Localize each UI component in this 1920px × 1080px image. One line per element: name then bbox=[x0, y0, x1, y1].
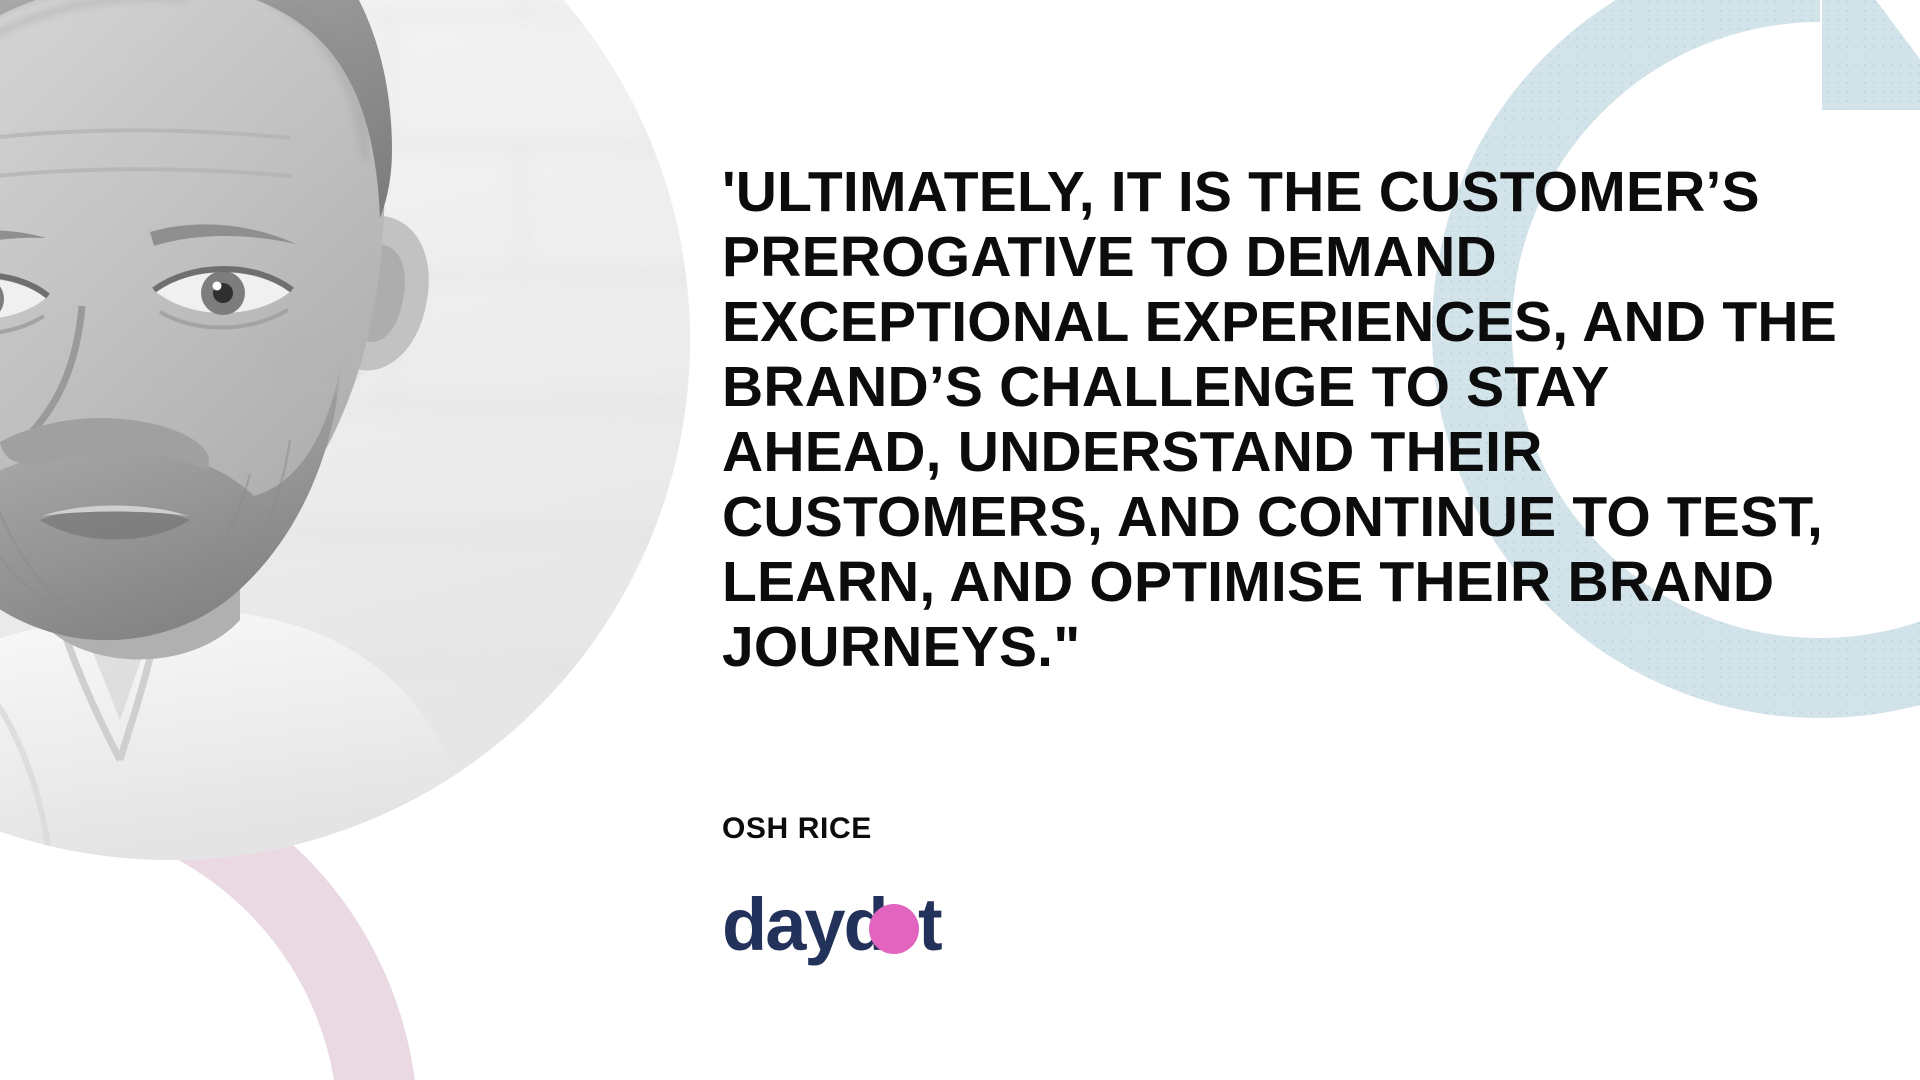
daydot-logo-text-before-dot: dayd bbox=[722, 888, 887, 966]
portrait-photo-image bbox=[0, 0, 690, 860]
daydot-logo-text-after-dot: t bbox=[918, 888, 942, 966]
daydot-logo-dot-icon bbox=[869, 904, 919, 954]
quote-line: PREROGATIVE TO DEMAND bbox=[722, 225, 1842, 290]
quote-line: BRAND’S CHALLENGE TO STAY bbox=[722, 355, 1842, 420]
quote-line: JOURNEYS." bbox=[722, 615, 1842, 680]
quote-line: AHEAD, UNDERSTAND THEIR bbox=[722, 420, 1842, 485]
quote-line: EXCEPTIONAL EXPERIENCES, AND THE bbox=[722, 290, 1842, 355]
daydot-logo[interactable]: dayd t bbox=[722, 888, 1022, 968]
quote-card: 'ULTIMATELY, IT IS THE CUSTOMER’SPREROGA… bbox=[0, 0, 1920, 1080]
quote-line: 'ULTIMATELY, IT IS THE CUSTOMER’S bbox=[722, 160, 1842, 225]
portrait-photo bbox=[0, 0, 690, 860]
daydot-logo-mark: dayd t bbox=[722, 888, 1022, 968]
quote-text: 'ULTIMATELY, IT IS THE CUSTOMER’SPREROGA… bbox=[722, 160, 1842, 680]
quote-attribution: OSH RICE bbox=[722, 812, 872, 846]
quote-line: LEARN, AND OPTIMISE THEIR BRAND bbox=[722, 550, 1842, 615]
content-column: 'ULTIMATELY, IT IS THE CUSTOMER’SPREROGA… bbox=[722, 0, 1882, 1080]
quote-line: CUSTOMERS, AND CONTINUE TO TEST, bbox=[722, 485, 1842, 550]
